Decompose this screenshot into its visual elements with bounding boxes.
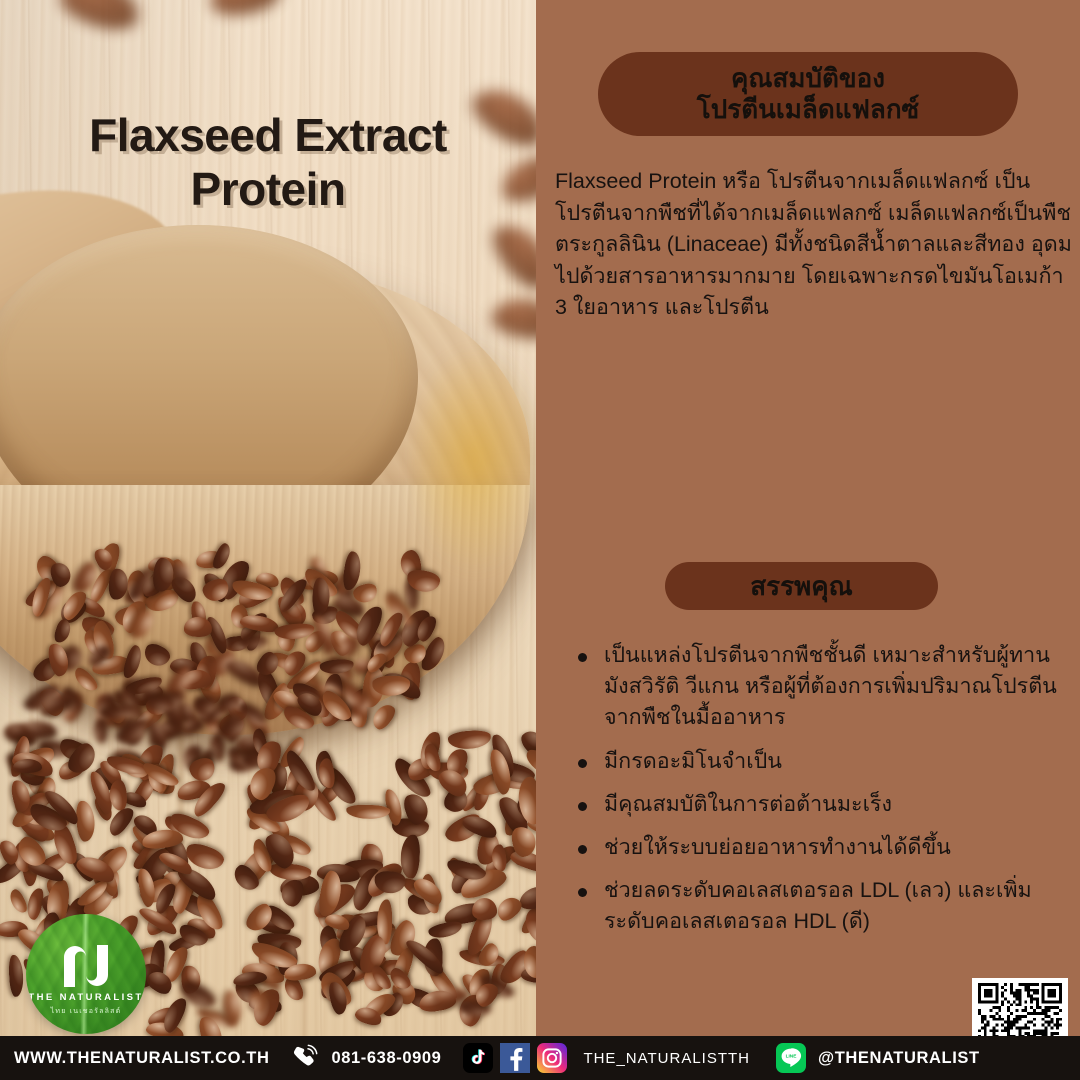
hero-photo: Flaxseed Extract Protein THE NATURALIST … [0, 0, 536, 1036]
flaxseed [13, 759, 43, 774]
benefit-text: ช่วยลดระดับคอเลสเตอรอล LDL (เลว) และเพิ่… [604, 878, 1032, 933]
flaxseed [248, 989, 268, 1014]
benefit-item: มีคุณสมบัติในการต่อต้านมะเร็ง [572, 789, 1072, 820]
footer-social-handle[interactable]: THE_NATURALISTTH [583, 1050, 750, 1067]
flaxseed [93, 718, 107, 743]
benefit-item: ช่วยให้ระบบย่อยอาหารทำงานได้ดีขึ้น [572, 832, 1072, 863]
svg-text:LINE: LINE [786, 1054, 797, 1060]
bullet-dot [578, 653, 587, 662]
section1-body-text: Flaxseed Protein หรือ โปรตีนจากเมล็ดแฟลก… [555, 166, 1075, 324]
tiktok-icon[interactable] [463, 1043, 493, 1073]
footer-website[interactable]: WWW.THENATURALIST.CO.TH [14, 1049, 269, 1068]
info-panel: คุณสมบัติของ โปรตีนเมล็ดแฟลกซ์ Flaxseed … [536, 0, 1080, 1036]
benefits-list: เป็นแหล่งโปรตีนจากพืชชั้นดี เหมาะสำหรับผ… [572, 640, 1072, 949]
section-heading-properties: คุณสมบัติของ โปรตีนเมล็ดแฟลกซ์ [598, 52, 1018, 136]
phone-icon [291, 1044, 319, 1072]
pollen-dust [400, 335, 536, 585]
page-title-line1: Flaxseed Extract [0, 108, 536, 162]
footer-line-id[interactable]: @THENATURALIST [818, 1049, 980, 1068]
benefit-text: ช่วยให้ระบบย่อยอาหารทำงานได้ดีขึ้น [604, 835, 951, 859]
benefit-text: มีกรดอะมิโนจำเป็น [604, 749, 782, 773]
brand-logo: THE NATURALIST ไทย เนเชอรัลลิสต์ [26, 914, 146, 1034]
poster-canvas: Flaxseed Extract Protein THE NATURALIST … [0, 0, 1080, 1080]
line-icon[interactable]: LINE [776, 1043, 806, 1073]
benefit-item: ช่วยลดระดับคอเลสเตอรอล LDL (เลว) และเพิ่… [572, 875, 1072, 937]
section1-heading-line2: โปรตีนเมล็ดแฟลกซ์ [697, 94, 919, 125]
bullet-dot [578, 802, 587, 811]
section-heading-benefits: สรรพคุณ [665, 562, 938, 610]
benefit-text: มีคุณสมบัติในการต่อต้านมะเร็ง [604, 792, 892, 816]
bullet-dot [578, 759, 587, 768]
page-title: Flaxseed Extract Protein [0, 108, 536, 217]
section1-heading-line1: คุณสมบัติของ [697, 63, 919, 94]
benefit-item: มีกรดอะมิโนจำเป็น [572, 746, 1072, 777]
benefit-item: เป็นแหล่งโปรตีนจากพืชชั้นดี เหมาะสำหรับผ… [572, 640, 1072, 734]
bullet-dot [578, 845, 587, 854]
page-title-line2: Protein [0, 162, 536, 216]
footer-phone[interactable]: 081-638-0909 [331, 1049, 441, 1068]
instagram-icon[interactable] [537, 1043, 567, 1073]
logo-subtitle: ไทย เนเชอรัลลิสต์ [26, 1006, 146, 1017]
bullet-dot [578, 888, 587, 897]
footer-bar: WWW.THENATURALIST.CO.TH 081-638-0909 [0, 1036, 1080, 1080]
logo-name: THE NATURALIST [26, 992, 146, 1003]
facebook-icon[interactable] [500, 1043, 530, 1073]
benefit-text: เป็นแหล่งโปรตีนจากพืชชั้นดี เหมาะสำหรับผ… [604, 643, 1057, 729]
logo-monogram-icon [58, 944, 114, 993]
